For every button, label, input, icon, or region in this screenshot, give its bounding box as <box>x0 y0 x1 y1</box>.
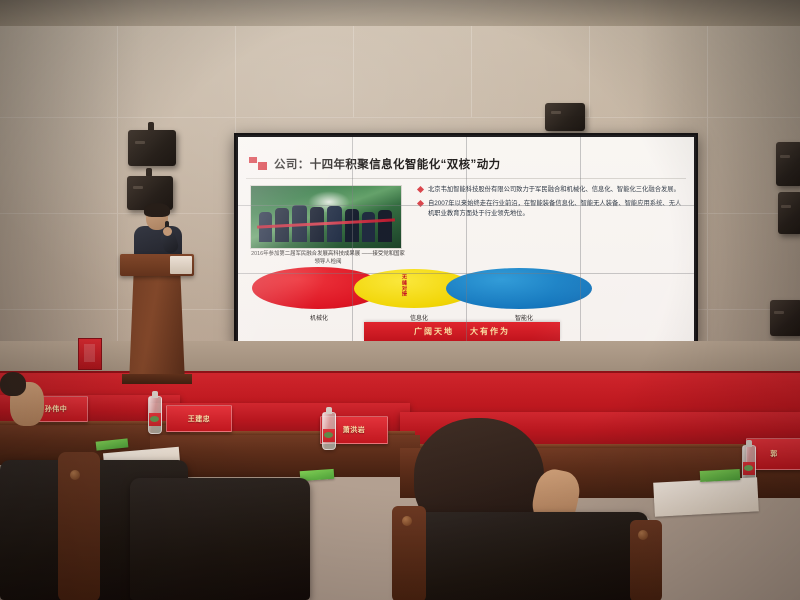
wall-speaker-icon <box>770 300 800 336</box>
presenter-hair <box>144 203 170 217</box>
slide-bottom-banner: 广阔天地 大有作为 <box>364 322 560 341</box>
water-bottle <box>148 396 162 434</box>
wall-speaker-icon <box>776 142 800 186</box>
wall-speaker-icon <box>545 103 585 131</box>
podium-top <box>120 254 194 276</box>
nameplate-text: 郭 <box>770 449 778 459</box>
ellipse-label-mechanization: 机械化 <box>284 313 354 322</box>
photo-scene: 公司：十四年积聚信息化智能化“双核”动力 2016年参加第二届军民融合发 <box>0 0 800 600</box>
banner-text-right: 大有作为 <box>470 326 510 337</box>
audience-hand <box>0 372 26 396</box>
bullet-item: 北京韦加智能科技股份有限公司致力于军民融合和机械化、信息化、智能化三化融合发展。 <box>418 185 684 195</box>
chair-stud <box>638 530 648 540</box>
led-video-wall: 公司：十四年积聚信息化智能化“双核”动力 2016年参加第二届军民融合发 <box>234 133 698 345</box>
wall-speaker-icon <box>128 130 176 166</box>
nameplate: 王建忠 <box>166 405 232 432</box>
nameplate-text: 王建忠 <box>188 414 211 424</box>
panel-seam <box>352 137 353 341</box>
slide-bullet-list: 北京韦加智能科技股份有限公司致力于军民融合和机械化、信息化、智能化三化融合发展。… <box>418 185 684 222</box>
wall-speaker-icon <box>778 192 800 234</box>
bullet-marker-icon <box>417 186 424 193</box>
paper-document <box>653 477 759 516</box>
podium <box>120 254 194 384</box>
panel-seam <box>466 137 467 341</box>
panel-seam <box>238 273 694 274</box>
slide-photo <box>250 185 402 249</box>
photo-figure <box>378 210 392 242</box>
ellipse-label-informatization: 信息化 <box>384 313 454 322</box>
slide-photo-caption: 2016年参加第二届军民融合发展高科技成果展 ——接受党和国家领导人检阅 <box>249 250 407 266</box>
green-card <box>700 469 741 482</box>
banner-text-left: 广阔天地 <box>414 326 454 337</box>
podium-body <box>129 276 185 384</box>
leather-chair <box>398 512 648 600</box>
presenter-hand <box>163 227 172 236</box>
audience-member-left <box>0 372 60 442</box>
chair-stud <box>70 470 80 480</box>
nameplate-text: 萧洪岩 <box>343 425 366 435</box>
ellipse-label-intelligence: 智能化 <box>484 313 564 322</box>
leather-chair <box>130 478 310 600</box>
company-logo-icon <box>249 157 267 171</box>
chair-stud <box>402 516 412 526</box>
panel-seam <box>580 137 581 341</box>
panel-seam <box>238 205 694 206</box>
ellipse-overlay-text: 无缝对接 <box>398 274 408 297</box>
water-bottle <box>322 412 336 450</box>
screen-surface: 公司：十四年积聚信息化智能化“双核”动力 2016年参加第二届军民融合发 <box>238 137 694 341</box>
photo-figure <box>362 212 375 242</box>
podium-base <box>122 374 192 384</box>
bullet-item: 自2007年以来始终走在行业前沿，在智能装备信息化、智能无人装备、智能应用系统、… <box>418 199 684 219</box>
ellipse-intelligence <box>446 268 592 309</box>
stage-red-box <box>78 338 102 370</box>
